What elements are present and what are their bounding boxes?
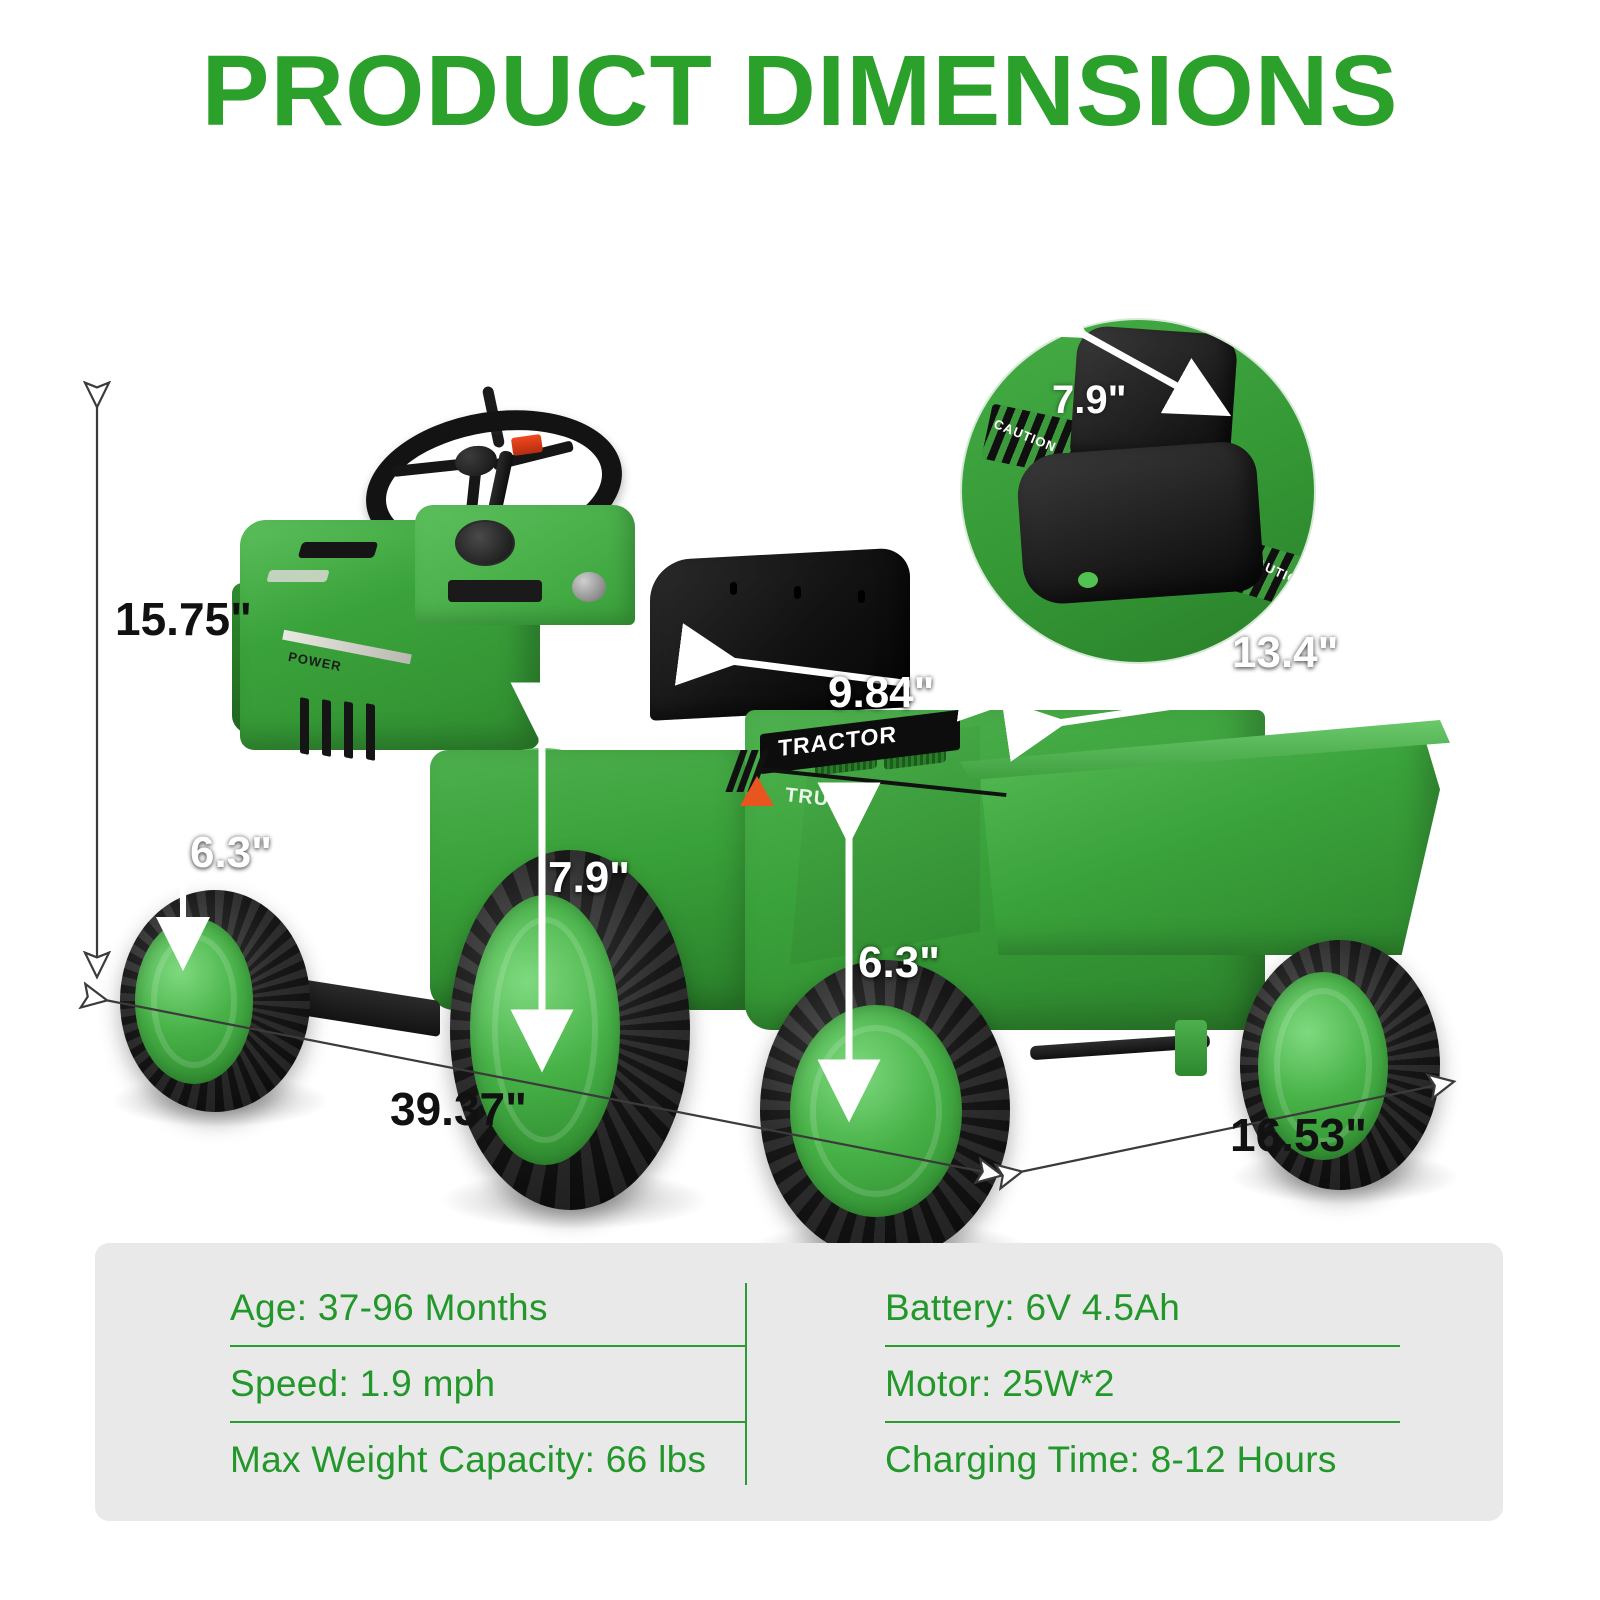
- spec-charging-time: Charging Time: 8-12 Hours: [885, 1439, 1337, 1481]
- spec-row: Charging Time: 8-12 Hours: [885, 1423, 1445, 1497]
- foot-plate: [300, 979, 440, 1037]
- hub-ring: [810, 1025, 942, 1197]
- gauge-icon: [455, 520, 515, 566]
- hood-louver: [300, 697, 309, 755]
- specifications-panel: Age: 37-96 Months Speed: 1.9 mph Max Wei…: [95, 1243, 1503, 1521]
- spec-column-right: Battery: 6V 4.5Ah Motor: 25W*2 Charging …: [885, 1271, 1445, 1497]
- overall-length-label: 39.37": [390, 1082, 527, 1136]
- spec-row: Battery: 6V 4.5Ah: [885, 1271, 1445, 1345]
- seat-detail-inset: CAUTION CAUTION: [960, 318, 1316, 664]
- spec-row: Max Weight Capacity: 66 lbs: [230, 1423, 790, 1497]
- dashboard: [415, 505, 635, 625]
- page-title: PRODUCT DIMENSIONS: [0, 34, 1600, 149]
- spec-battery: Battery: 6V 4.5Ah: [885, 1287, 1180, 1329]
- seat-mount-hole: [858, 590, 865, 603]
- bed-length-label: 13.4": [1232, 628, 1339, 678]
- hitch-post: [1175, 1020, 1207, 1076]
- key-switch-icon[interactable]: [572, 572, 606, 602]
- spec-motor: Motor: 25W*2: [885, 1363, 1115, 1405]
- spec-speed: Speed: 1.9 mph: [230, 1363, 495, 1405]
- overall-height-label: 15.75": [115, 592, 252, 646]
- inset-seat-cushion: [1015, 440, 1265, 606]
- hood-louver: [344, 701, 353, 759]
- warning-triangle-icon: [740, 776, 774, 806]
- headlight: [266, 570, 329, 582]
- front-wheel-label: 7.9": [548, 853, 630, 903]
- rear-left-hubcap: [135, 918, 253, 1084]
- spec-age: Age: 37-96 Months: [230, 1287, 548, 1329]
- hood-vent-icon: [298, 542, 379, 558]
- overall-depth-label: 16.53": [1230, 1108, 1367, 1162]
- trailer-wheel-label: 6.3": [858, 938, 940, 988]
- rear-wheel-label: 6.3": [190, 828, 272, 878]
- trailer-front-hubcap: [790, 1005, 962, 1217]
- seat-width-label: 7.9": [1052, 378, 1127, 423]
- hub-ring: [151, 934, 237, 1068]
- spec-row: Motor: 25W*2: [885, 1347, 1445, 1421]
- hood-louver: [366, 703, 375, 761]
- spec-max-weight: Max Weight Capacity: 66 lbs: [230, 1439, 706, 1481]
- spec-row: Age: 37-96 Months: [230, 1271, 790, 1345]
- spec-row: Speed: 1.9 mph: [230, 1347, 790, 1421]
- spec-column-divider: [745, 1283, 747, 1485]
- bed-width-label: 9.84": [828, 668, 935, 718]
- product-illustration: POWER TRACTOR TRUCK CAUTION CAUTI: [0, 150, 1600, 1210]
- switch-panel[interactable]: [448, 580, 542, 602]
- hood-louver: [322, 699, 331, 757]
- seat-mount-hole: [730, 582, 737, 595]
- spec-column-left: Age: 37-96 Months Speed: 1.9 mph Max Wei…: [230, 1271, 790, 1497]
- seat-adjust-knob[interactable]: [1078, 572, 1098, 588]
- seat-mount-hole: [794, 586, 801, 599]
